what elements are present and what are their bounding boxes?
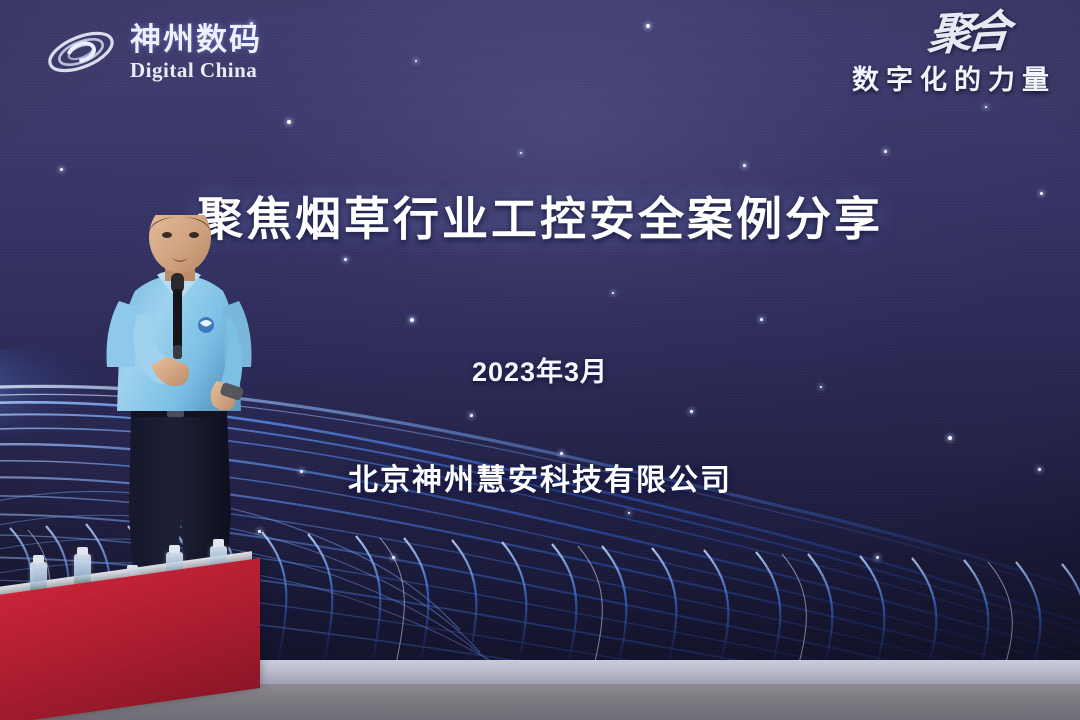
event-calligraphy: 聚合 bbox=[850, 12, 1006, 60]
digital-china-logo: 神州数码 Digital China bbox=[44, 22, 262, 82]
event-tagline: 数字化的力量 bbox=[852, 58, 1056, 97]
digital-china-name-en: Digital China bbox=[130, 60, 262, 81]
conference-photo: 神州数码 Digital China 聚合 数字化的力量 聚焦烟草行业工控安全案… bbox=[0, 0, 1080, 720]
shirt-chest-logo bbox=[198, 317, 214, 333]
digital-china-swirl-icon bbox=[44, 22, 118, 82]
digital-china-name-cn: 神州数码 bbox=[130, 24, 262, 55]
head bbox=[149, 215, 211, 273]
digital-china-wordmark: 神州数码 Digital China bbox=[130, 24, 262, 81]
event-logo: 聚合 数字化的力量 bbox=[852, 16, 1056, 97]
